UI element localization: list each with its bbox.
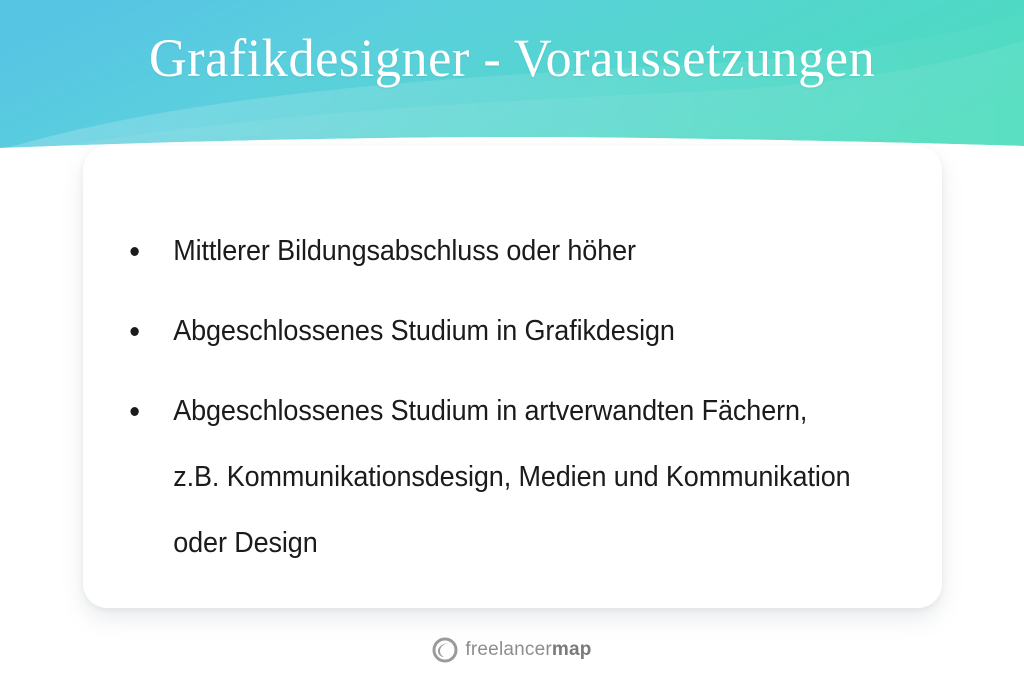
bullet-icon — [130, 247, 138, 256]
bullet-icon — [130, 407, 138, 416]
page-title: Grafikdesigner - Voraussetzungen — [15, 26, 1008, 90]
list-item-label: Mittlerer Bildungsabschluss oder höher — [173, 218, 857, 284]
list-item: Abgeschlossenes Studium in artverwandten… — [123, 378, 857, 576]
list-item: Mittlerer Bildungsabschluss oder höher — [123, 218, 857, 284]
footer-logo-text-light: freelancer — [465, 639, 552, 660]
slide-canvas: Grafikdesigner - Voraussetzungen Mittler… — [0, 0, 1024, 683]
content-card: Mittlerer Bildungsabschluss oder höher A… — [83, 146, 942, 608]
header-banner: Grafikdesigner - Voraussetzungen — [0, 0, 1024, 160]
footer-logo: freelancermap — [0, 637, 1024, 663]
footer-logo-text: freelancermap — [465, 639, 591, 661]
footer-logo-text-bold: map — [552, 639, 592, 660]
list-item: Abgeschlossenes Studium in Grafikdesign — [123, 298, 857, 364]
list-item-label: Abgeschlossenes Studium in Grafikdesign — [173, 298, 857, 364]
bullet-icon — [130, 327, 138, 336]
requirements-list: Mittlerer Bildungsabschluss oder höher A… — [123, 218, 912, 576]
freelancermap-circle-swirl-icon — [432, 637, 458, 663]
list-item-label: Abgeschlossenes Studium in artverwandten… — [173, 378, 857, 576]
